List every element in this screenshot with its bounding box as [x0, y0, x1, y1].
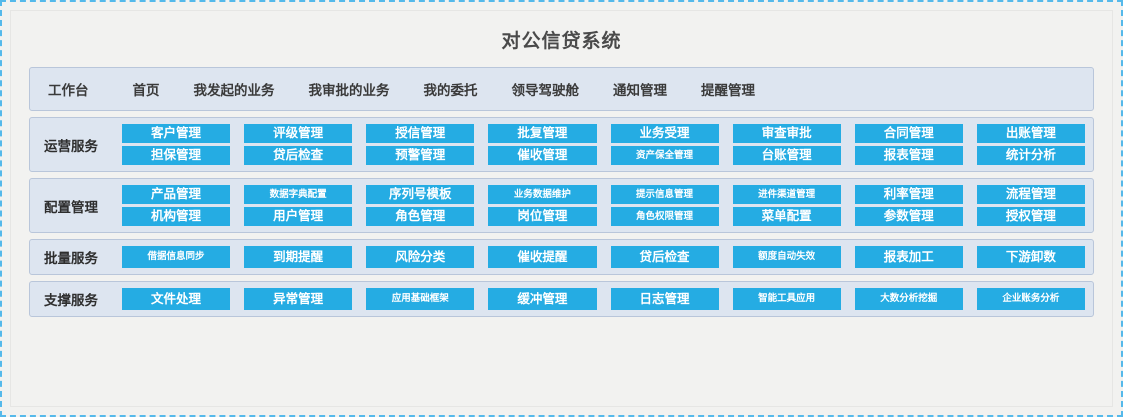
module-button[interactable]: 评级管理: [244, 124, 352, 143]
module-button[interactable]: 业务数据维护: [488, 185, 596, 204]
section-label-3: 支撑服务: [40, 289, 122, 309]
page-title: 对公信贷系统: [501, 26, 621, 53]
nav-item-1[interactable]: 首页: [133, 79, 160, 99]
module-button[interactable]: 应用基础框架: [366, 288, 474, 310]
module-button[interactable]: 用户管理: [244, 207, 352, 226]
module-button[interactable]: 序列号模板: [366, 185, 474, 204]
section-2: 批量服务借据信息同步到期提醒风险分类催收提醒贷后检查额度自动失效报表加工下游卸数: [29, 239, 1094, 275]
module-button[interactable]: 进件渠道管理: [733, 185, 841, 204]
section-grid-1: 产品管理数据字典配置序列号模板业务数据维护提示信息管理进件渠道管理利率管理流程管…: [122, 185, 1085, 226]
module-button[interactable]: 缓冲管理: [488, 288, 596, 310]
module-button[interactable]: 催收提醒: [488, 246, 596, 268]
module-button[interactable]: 角色管理: [366, 207, 474, 226]
module-button[interactable]: 岗位管理: [488, 207, 596, 226]
module-button[interactable]: 角色权限管理: [611, 207, 719, 226]
module-button[interactable]: 批复管理: [488, 124, 596, 143]
nav-item-0[interactable]: 工作台: [48, 79, 89, 99]
module-button[interactable]: 异常管理: [244, 288, 352, 310]
nav-item-4[interactable]: 我的委托: [424, 79, 478, 99]
module-button[interactable]: 大数分析挖掘: [855, 288, 963, 310]
module-button[interactable]: 日志管理: [611, 288, 719, 310]
module-button[interactable]: 贷后检查: [244, 146, 352, 165]
module-button[interactable]: 合同管理: [855, 124, 963, 143]
module-button[interactable]: 预警管理: [366, 146, 474, 165]
module-button[interactable]: 数据字典配置: [244, 185, 352, 204]
module-button[interactable]: 参数管理: [855, 207, 963, 226]
module-button[interactable]: 台账管理: [733, 146, 841, 165]
module-button[interactable]: 审查审批: [733, 124, 841, 143]
module-button[interactable]: 担保管理: [122, 146, 230, 165]
section-1: 配置管理产品管理数据字典配置序列号模板业务数据维护提示信息管理进件渠道管理利率管…: [29, 178, 1094, 233]
module-button[interactable]: 下游卸数: [977, 246, 1085, 268]
module-button[interactable]: 催收管理: [488, 146, 596, 165]
main-navigation: 工作台首页我发起的业务我审批的业务我的委托领导驾驶舱通知管理提醒管理: [29, 67, 1094, 111]
module-button[interactable]: 风险分类: [366, 246, 474, 268]
module-button[interactable]: 出账管理: [977, 124, 1085, 143]
module-button[interactable]: 菜单配置: [733, 207, 841, 226]
module-button[interactable]: 额度自动失效: [733, 246, 841, 268]
module-button[interactable]: 授权管理: [977, 207, 1085, 226]
section-grid-0: 客户管理评级管理授信管理批复管理业务受理审查审批合同管理出账管理担保管理贷后检查…: [122, 124, 1085, 165]
module-button[interactable]: 产品管理: [122, 185, 230, 204]
module-button[interactable]: 统计分析: [977, 146, 1085, 165]
section-grid-2: 借据信息同步到期提醒风险分类催收提醒贷后检查额度自动失效报表加工下游卸数: [122, 246, 1085, 268]
module-button[interactable]: 资产保全管理: [611, 146, 719, 165]
section-0: 运营服务客户管理评级管理授信管理批复管理业务受理审查审批合同管理出账管理担保管理…: [29, 117, 1094, 172]
module-button[interactable]: 报表加工: [855, 246, 963, 268]
section-label-1: 配置管理: [40, 196, 122, 216]
module-button[interactable]: 业务受理: [611, 124, 719, 143]
section-3: 支撑服务文件处理异常管理应用基础框架缓冲管理日志管理智能工具应用大数分析挖掘企业…: [29, 281, 1094, 317]
nav-item-5[interactable]: 领导驾驶舱: [512, 79, 580, 99]
nav-item-3[interactable]: 我审批的业务: [309, 79, 390, 99]
screenshot-canvas: 对公信贷系统 工作台首页我发起的业务我审批的业务我的委托领导驾驶舱通知管理提醒管…: [0, 0, 1123, 417]
module-button[interactable]: 报表管理: [855, 146, 963, 165]
module-button[interactable]: 利率管理: [855, 185, 963, 204]
app-page: 对公信贷系统 工作台首页我发起的业务我审批的业务我的委托领导驾驶舱通知管理提醒管…: [10, 10, 1113, 407]
nav-item-7[interactable]: 提醒管理: [701, 79, 755, 99]
module-button[interactable]: 机构管理: [122, 207, 230, 226]
module-button[interactable]: 文件处理: [122, 288, 230, 310]
module-sections: 运营服务客户管理评级管理授信管理批复管理业务受理审查审批合同管理出账管理担保管理…: [29, 117, 1094, 317]
module-button[interactable]: 授信管理: [366, 124, 474, 143]
module-button[interactable]: 客户管理: [122, 124, 230, 143]
module-button[interactable]: 智能工具应用: [733, 288, 841, 310]
section-grid-3: 文件处理异常管理应用基础框架缓冲管理日志管理智能工具应用大数分析挖掘企业账务分析: [122, 288, 1085, 310]
module-button[interactable]: 贷后检查: [611, 246, 719, 268]
module-button[interactable]: 借据信息同步: [122, 246, 230, 268]
nav-item-6[interactable]: 通知管理: [613, 79, 667, 99]
section-label-2: 批量服务: [40, 247, 122, 267]
module-button[interactable]: 到期提醒: [244, 246, 352, 268]
module-button[interactable]: 企业账务分析: [977, 288, 1085, 310]
section-label-0: 运营服务: [40, 135, 122, 155]
module-button[interactable]: 流程管理: [977, 185, 1085, 204]
title-bar: 对公信贷系统: [29, 11, 1094, 67]
nav-item-2[interactable]: 我发起的业务: [194, 79, 275, 99]
module-button[interactable]: 提示信息管理: [611, 185, 719, 204]
